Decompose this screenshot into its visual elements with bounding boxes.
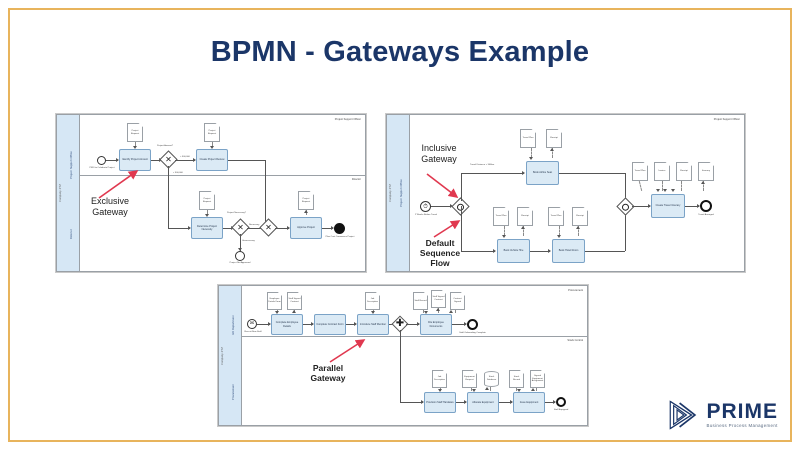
flow-4 (228, 160, 265, 161)
pool-label-dept-2: Project Support Office (400, 179, 403, 207)
doc-job-description: Job Description (365, 292, 380, 310)
p2-flow-9 (585, 251, 625, 252)
logo-text: PRIME Business Process Management (706, 401, 778, 428)
p2-flow-3 (461, 173, 524, 174)
assoc-arrow-2 (210, 146, 214, 149)
lane-label-bottom-3: Stock Control (567, 339, 583, 342)
pool-company-xyz-3: Company XYZ HR Department Procurement Pr… (218, 285, 588, 426)
annotation-inclusive-line1: Inclusive (400, 143, 478, 154)
flow-label-under-500: < 500,000 (173, 172, 183, 175)
doc-signed-equipment-assignment: Signed Equipment Assignment (530, 370, 545, 388)
annotation-inclusive-line2: Gateway (400, 154, 478, 165)
task-determine-project-necessity: Determine Project Necessity (191, 217, 223, 239)
flow-label-project-amount: Project Amount? (157, 145, 173, 148)
flow-label-project-necessary: Project Necessary? (227, 212, 246, 215)
end-event-label-not-approved: Project Not Approved (223, 262, 257, 265)
doc-receipt-1: Receipt (546, 129, 562, 148)
flow-label-travel-distance: Travel Distance > 300km (470, 164, 498, 167)
p3-flow-7 (400, 330, 401, 402)
task-book-airline-seat: Book Airline Seat (526, 161, 559, 185)
lane-label-top-3: Procurement (568, 289, 583, 292)
flow-6 (168, 166, 169, 228)
doc-project-request-1: Project Request (127, 123, 143, 142)
doc-equipment-request: Equipment Request (462, 370, 477, 388)
p2-flow-1 (431, 206, 452, 207)
p2-assoc-arrow-9 (671, 189, 675, 192)
p3-assoc-11 (536, 388, 537, 391)
pool-label-company-3: Company XYZ (221, 347, 224, 365)
end-event-label-plan-cost: Plan Cost Commence Project (323, 236, 357, 239)
p3-assoc-arrow-3 (371, 311, 375, 314)
start-event-recruit: ✉ (247, 319, 257, 329)
doc-project-request-3: Project Request (199, 191, 215, 210)
doc-receipt-4: Receipt (676, 162, 692, 181)
task-issue-equipment: Issue Equipment (513, 392, 545, 413)
p2-assoc-arrow-1 (529, 157, 533, 160)
task-complete-contract-form: Complete Contract Form (314, 314, 346, 335)
annotation-arrow-inclusive (425, 172, 463, 202)
annotation-exclusive-gateway: Exclusive Gateway (72, 196, 148, 217)
doc-itinerary: Itinerary (698, 162, 714, 181)
assoc-arrow-4 (304, 210, 308, 213)
flow-label-unnecessary: Unnecessary (242, 240, 255, 243)
lane-divider-3 (241, 336, 587, 337)
p2-flow-10 (625, 212, 626, 251)
doc-invoice: Invoice (654, 162, 670, 181)
p3-assoc-arrow-7 (438, 389, 442, 392)
lane-label-bottom-1: Director (352, 178, 361, 181)
p2-assoc-arrow-6 (576, 226, 580, 229)
task-introduce-staff-member: Introduce Staff Member (357, 314, 389, 335)
end-event-label-travel-arranged: Travel Arranged (689, 214, 723, 217)
start-event-label-3: Recruit New Staff (237, 331, 269, 334)
message-icon: ✉ (250, 322, 254, 327)
task-create-travel-itinerary: Create Travel Itinerary (651, 194, 685, 218)
annotation-default-line2: Sequence (400, 248, 480, 258)
doc-travel-plan-1: Travel Plan (520, 129, 536, 148)
gateway-x-icon-2: ✕ (235, 222, 246, 233)
doc-employee-details-form: Employee Details Form (267, 292, 282, 310)
doc-receipt-3: Receipt (572, 207, 588, 226)
p3-assoc-6 (455, 310, 456, 313)
p3-assoc-arrow-6 (449, 310, 453, 313)
p2-flow-4 (559, 173, 625, 174)
logo-tagline: Business Process Management (706, 424, 778, 428)
annotation-default-line1: Default (400, 238, 480, 248)
doc-travel-plan-2: Travel Plan (493, 207, 509, 226)
flow-3 (175, 160, 195, 161)
p3-assoc-arrow-2 (292, 310, 296, 313)
doc-project-request-4: Project Request (298, 191, 314, 210)
doc-contract-signed: Contract Signed (450, 292, 465, 310)
annotation-default-sequence-flow: Default Sequence Flow (400, 238, 480, 268)
flow-label-necessary: Necessary (249, 224, 259, 227)
assoc-arrow-3 (205, 214, 209, 217)
timer-icon: ⏱ (423, 204, 428, 210)
p3-assoc-arrow-8 (472, 389, 476, 392)
start-event-pmo (97, 156, 106, 165)
task-complete-employee-details: Complete Employee Details (271, 314, 303, 335)
end-event-label-onboarding: Staff Onboarding Complete (455, 332, 490, 335)
prime-triangle-icon (666, 398, 700, 432)
p2-flow-8 (530, 251, 550, 252)
p3-assoc-arrow-1 (275, 311, 279, 314)
gateway-circle-icon-2 (622, 203, 629, 210)
p2-assoc-arrow-8 (663, 189, 667, 192)
task-provision-staff-hardware: Provision Staff Hardware (424, 392, 456, 413)
p2-assoc-arrow-5 (557, 235, 561, 238)
gateway-plus-icon: ✚ (395, 319, 405, 329)
annotation-parallel-line1: Parallel (285, 363, 371, 373)
p3-flow-8 (400, 402, 423, 403)
p3-assoc-arrow-9 (485, 387, 489, 390)
annotation-arrow-parallel (327, 337, 369, 365)
pool-header-dept-3: HR Department Procurement (230, 286, 242, 425)
flow-7 (168, 228, 190, 229)
annotation-parallel-gateway: Parallel Gateway (285, 363, 371, 383)
p3-assoc-9 (490, 387, 491, 391)
p2-assoc-arrow-2 (550, 148, 554, 151)
task-book-hotel-room: Book Hotel Room (552, 239, 585, 263)
task-allocate-equipment: Allocate Equipment (467, 392, 499, 413)
p2-assoc-9 (681, 181, 682, 191)
annotation-arrow-default-flow (432, 218, 464, 240)
gateway-x-icon-1: ✕ (163, 154, 174, 165)
doc-staff-signed-contract-2: Staff Signed Contract (431, 290, 446, 308)
p2-flow-arrow-7 (493, 249, 496, 253)
logo-name: PRIME (706, 401, 778, 422)
end-event-staff-onboarding (467, 319, 478, 330)
flow-5 (265, 160, 266, 228)
end-event-plan-cost (334, 223, 345, 234)
task-book-vehicle-hire: Book Vehicle Hire (497, 239, 530, 263)
p2-assoc-arrow-3 (502, 235, 506, 238)
end-event-project-not-approved (235, 251, 245, 261)
task-file-employee-documents: File Employee Documents (420, 314, 452, 335)
annotation-inclusive-gateway: Inclusive Gateway (400, 143, 478, 164)
doc-stock-record: Stock Record (509, 370, 524, 388)
p2-assoc-arrow-10 (701, 181, 705, 184)
p3-assoc-arrow-11 (531, 388, 535, 391)
lane-label-top-1: Project Support Officer (335, 118, 361, 121)
pool-label-company-2: Company XYZ (389, 184, 392, 202)
annotation-exclusive-line1: Exclusive (72, 196, 148, 207)
annotation-parallel-line2: Gateway (285, 373, 371, 383)
page-title: BPMN - Gateways Example (0, 36, 800, 69)
p3-assoc-arrow-5 (436, 308, 440, 311)
task-create-project-review: Create Project Review (196, 149, 228, 171)
p3-assoc-arrow-4 (424, 311, 428, 314)
doc-project-request-2: Project Request (204, 123, 220, 142)
doc-staff-signed-contract: Staff Signed Contract (287, 292, 302, 310)
p2-flow-arrow-3 (522, 171, 525, 175)
panel-parallel-gateway: Company XYZ HR Department Procurement Pr… (217, 284, 589, 427)
pool-label-dept-3: HR Department (232, 315, 235, 334)
presentation-slide: BPMN - Gateways Example Company XYZ Proj… (0, 0, 800, 450)
end-event-label-staff-equipped: Staff Equipped (545, 409, 577, 412)
doc-travel-plan-4: Travel Plan (632, 162, 648, 181)
pool-label-dept-3b: Procurement (232, 384, 235, 400)
pool-label-company-1: Company XYZ (59, 184, 62, 202)
p2-assoc-7 (639, 181, 642, 191)
prime-logo: PRIME Business Process Management (666, 398, 778, 432)
pool-label-dept-1b: Director (70, 229, 73, 239)
task-approve-project: Approve Project (290, 217, 322, 239)
start-event-timer: ⏱ (420, 201, 431, 212)
lane-label-2: Project Support Officer (714, 118, 740, 121)
gateway-x-icon-3: ✕ (263, 222, 274, 233)
start-event-label-2: 2 Weeks Before Travel (409, 214, 443, 217)
annotation-exclusive-line2: Gateway (72, 207, 148, 218)
doc-receipt-2: Receipt (517, 207, 533, 226)
flow-label-over-500: > 500,000 (180, 156, 190, 159)
assoc-arrow-1 (133, 146, 137, 149)
p2-assoc-arrow-7 (656, 189, 660, 192)
doc-travel-plan-3: Travel Plan (548, 207, 564, 226)
pool-header-dept-1: Project Support Office Director (68, 115, 80, 271)
doc-stock-database: Stock Database (484, 371, 499, 387)
end-event-staff-equipped (556, 397, 566, 407)
p2-assoc-arrow-4 (521, 226, 525, 229)
doc-job-description-2: Job Description (432, 370, 447, 388)
pool-label-dept-1: Project Support Office (70, 151, 73, 179)
p2-flow-arrow-8 (548, 249, 551, 253)
doc-staff-record: Staff Record (413, 292, 428, 310)
annotation-default-line3: Flow (400, 258, 480, 268)
end-event-travel-arranged (700, 200, 712, 212)
p3-assoc-arrow-10 (517, 389, 521, 392)
